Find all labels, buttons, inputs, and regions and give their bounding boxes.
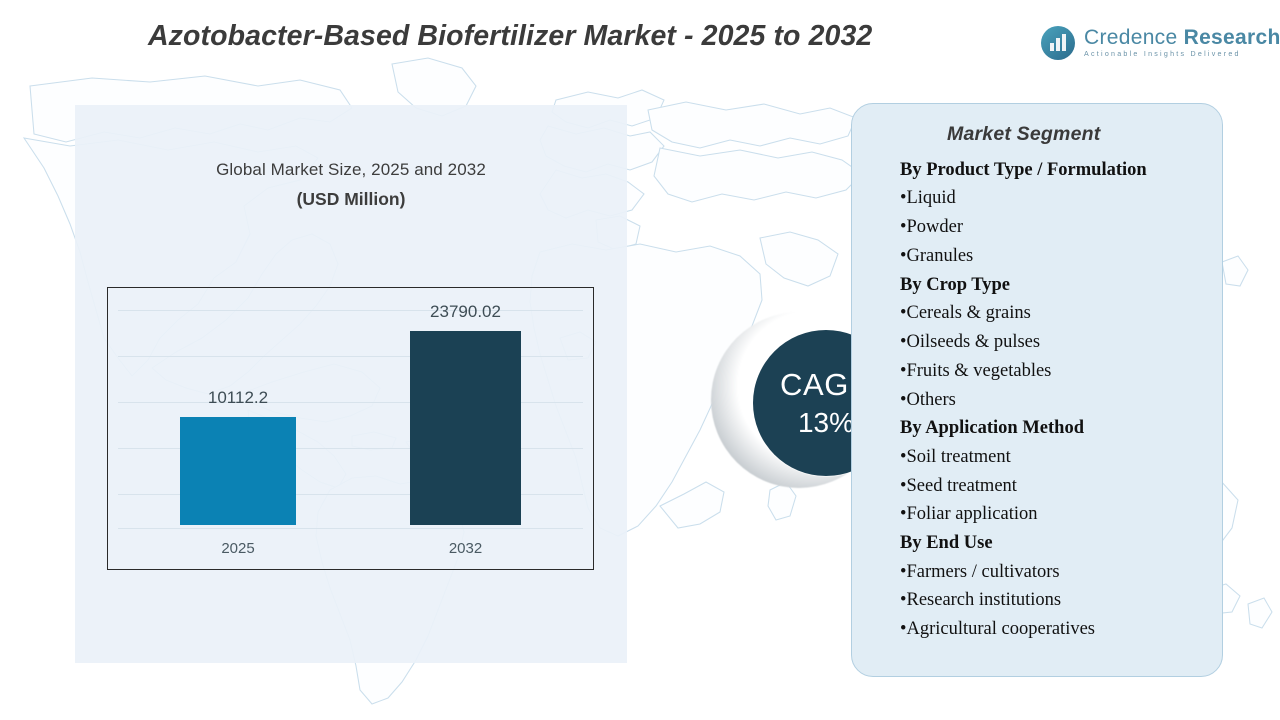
brand-tagline: Actionable Insights Delivered — [1084, 51, 1280, 58]
bar-2032-value-label: 23790.02 — [350, 302, 581, 322]
segment-list-item: •Oilseeds & pulses — [900, 328, 1202, 357]
bar-2025[interactable]: 10112.2 2025 — [180, 417, 296, 525]
segment-list-item: •Powder — [900, 213, 1202, 242]
segment-list-item: •Foliar application — [900, 500, 1202, 529]
chart-heading-line2: (USD Million) — [75, 189, 627, 210]
segment-list-item: •Research institutions — [900, 586, 1202, 615]
page-title: Azotobacter-Based Biofertilizer Market -… — [148, 20, 872, 53]
market-segment-title: Market Segment — [947, 123, 1202, 146]
segment-list-item: •Granules — [900, 242, 1202, 271]
bar-chart-circle-icon — [1041, 26, 1075, 60]
bar-2032-category-label: 2032 — [350, 540, 581, 557]
segment-group: By Application Method•Soil treatment•See… — [900, 414, 1202, 529]
infographic-canvas: Azotobacter-Based Biofertilizer Market -… — [0, 0, 1280, 720]
chart-heading: Global Market Size, 2025 and 2032 (USD M… — [75, 160, 627, 210]
segment-list-item: •Liquid — [900, 184, 1202, 213]
bar-2032[interactable]: 23790.02 2032 — [410, 331, 521, 525]
segment-list-item: •Seed treatment — [900, 472, 1202, 501]
market-segment-list: By Product Type / Formulation•Liquid•Pow… — [900, 156, 1202, 644]
gridline — [118, 528, 583, 529]
segment-group-heading: By Product Type / Formulation — [900, 156, 1202, 184]
segment-list-item: •Farmers / cultivators — [900, 558, 1202, 587]
segment-list-item: •Agricultural cooperatives — [900, 615, 1202, 644]
cagr-value: 13% — [798, 409, 854, 437]
chart-heading-line1: Global Market Size, 2025 and 2032 — [75, 160, 627, 180]
bar-2032-rect — [410, 331, 521, 525]
brand-name: Credence Research — [1084, 27, 1280, 48]
segment-list-item: •Soil treatment — [900, 443, 1202, 472]
brand-name-part2: Research — [1184, 26, 1280, 49]
brand-logo: Credence Research Actionable Insights De… — [1041, 26, 1280, 60]
market-segment-panel: Market Segment By Product Type / Formula… — [851, 103, 1223, 677]
segment-group: By End Use•Farmers / cultivators•Researc… — [900, 529, 1202, 644]
segment-group-heading: By Crop Type — [900, 271, 1202, 299]
segment-group: By Crop Type•Cereals & grains•Oilseeds &… — [900, 271, 1202, 415]
bar-chart-plot-area: 10112.2 2025 23790.02 2032 — [107, 287, 594, 570]
bar-chart-plot-inner: 10112.2 2025 23790.02 2032 — [108, 288, 593, 569]
segment-group: By Product Type / Formulation•Liquid•Pow… — [900, 156, 1202, 271]
segment-list-item: •Fruits & vegetables — [900, 357, 1202, 386]
brand-logo-text: Credence Research Actionable Insights De… — [1084, 27, 1280, 58]
bar-2025-category-label: 2025 — [120, 540, 356, 557]
brand-name-part1: Credence — [1084, 26, 1177, 49]
segment-list-item: •Others — [900, 386, 1202, 415]
bar-2025-value-label: 10112.2 — [120, 388, 356, 408]
segment-list-item: •Cereals & grains — [900, 299, 1202, 328]
segment-group-heading: By End Use — [900, 529, 1202, 557]
segment-group-heading: By Application Method — [900, 414, 1202, 442]
bar-2025-rect — [180, 417, 296, 525]
